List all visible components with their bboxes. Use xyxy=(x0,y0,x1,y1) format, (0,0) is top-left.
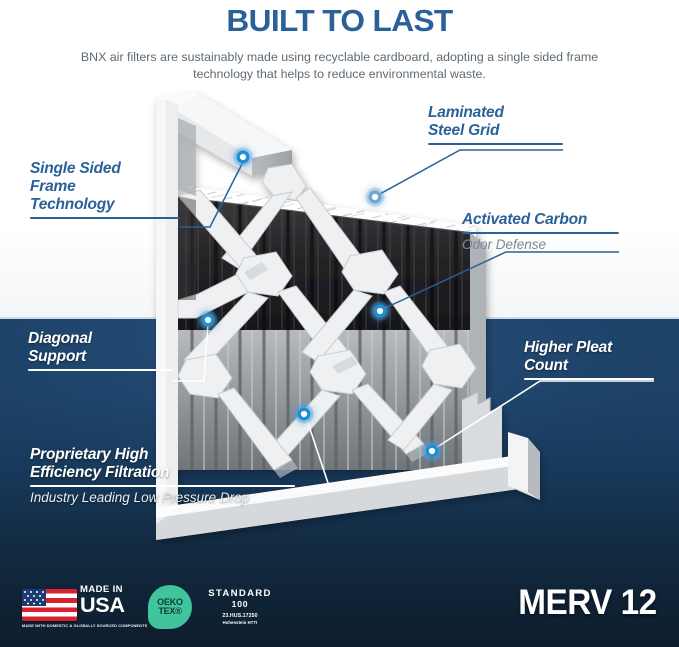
air-filter-product-image xyxy=(0,0,679,647)
callout-line: Proprietary High xyxy=(30,446,295,464)
callout-line: Technology xyxy=(30,196,180,214)
callout-line: Support xyxy=(28,348,173,366)
page-title: BUILT TO LAST xyxy=(0,3,679,39)
callout-single-sided-frame-technology: Single Sided Frame Technology xyxy=(30,160,180,219)
callout-line: Higher Pleat xyxy=(524,339,654,357)
page-subtitle: BNX air filters are sustainably made usi… xyxy=(80,49,600,83)
callout-underline xyxy=(28,369,173,371)
callout-subtitle: Industry Leading Low Pressure Drop xyxy=(30,489,295,506)
callout-proprietary-high-efficiency-filtration: Proprietary High Efficiency Filtration I… xyxy=(30,446,295,506)
callout-subtitle: Odor Defense xyxy=(462,236,619,253)
callout-line: Laminated xyxy=(428,104,563,122)
callout-underline xyxy=(524,378,654,380)
merv-rating: MERV 12 xyxy=(519,583,657,623)
callout-line: Diagonal xyxy=(28,330,173,348)
callout-line: Efficiency Filtration xyxy=(30,464,295,482)
callout-line: Steel Grid xyxy=(428,122,563,140)
oeko-standard-number: 100 xyxy=(200,599,280,610)
callout-higher-pleat-count: Higher Pleat Count xyxy=(524,339,654,380)
callout-laminated-steel-grid: Laminated Steel Grid xyxy=(428,104,563,145)
callout-activated-carbon: Activated Carbon Odor Defense xyxy=(462,211,619,253)
header: BUILT TO LAST BNX air filters are sustai… xyxy=(0,0,679,83)
oeko-tex-text: STANDARD 100 23.HUS.17250 Hohenstein HTT… xyxy=(200,588,280,626)
flag-canton xyxy=(22,589,46,606)
footer-badges: MADE IN USA MADE WITH DOMESTIC & GLOBALL… xyxy=(0,575,679,647)
made-in-usa-fine-print: MADE WITH DOMESTIC & GLOBALLY SOURCED CO… xyxy=(22,623,164,628)
callout-line: Single Sided xyxy=(30,160,180,178)
callout-underline xyxy=(428,143,563,145)
oeko-institute: Hohenstein HTTI xyxy=(200,620,280,626)
made-in-usa-badge: MADE IN USA MADE WITH DOMESTIC & GLOBALL… xyxy=(22,583,162,631)
us-flag-icon xyxy=(22,589,77,621)
callout-underline xyxy=(462,232,619,234)
infographic-canvas: BUILT TO LAST BNX air filters are sustai… xyxy=(0,0,679,647)
callout-underline xyxy=(30,217,180,219)
callout-line: Count xyxy=(524,357,654,375)
oeko-cert-number: 23.HUS.17250 xyxy=(200,613,280,620)
oeko-tex-logo-icon: OEKO TEX® xyxy=(148,585,192,629)
callout-line: Frame xyxy=(30,178,180,196)
callout-line: Activated Carbon xyxy=(462,211,619,229)
oeko-tex-badge: OEKO TEX® STANDARD 100 23.HUS.17250 Hohe… xyxy=(148,581,278,633)
oeko-standard-label: STANDARD xyxy=(200,588,280,599)
oeko-mark-line2: TEX® xyxy=(158,607,181,617)
callout-diagonal-support: Diagonal Support xyxy=(28,330,173,371)
callout-underline xyxy=(30,485,295,487)
